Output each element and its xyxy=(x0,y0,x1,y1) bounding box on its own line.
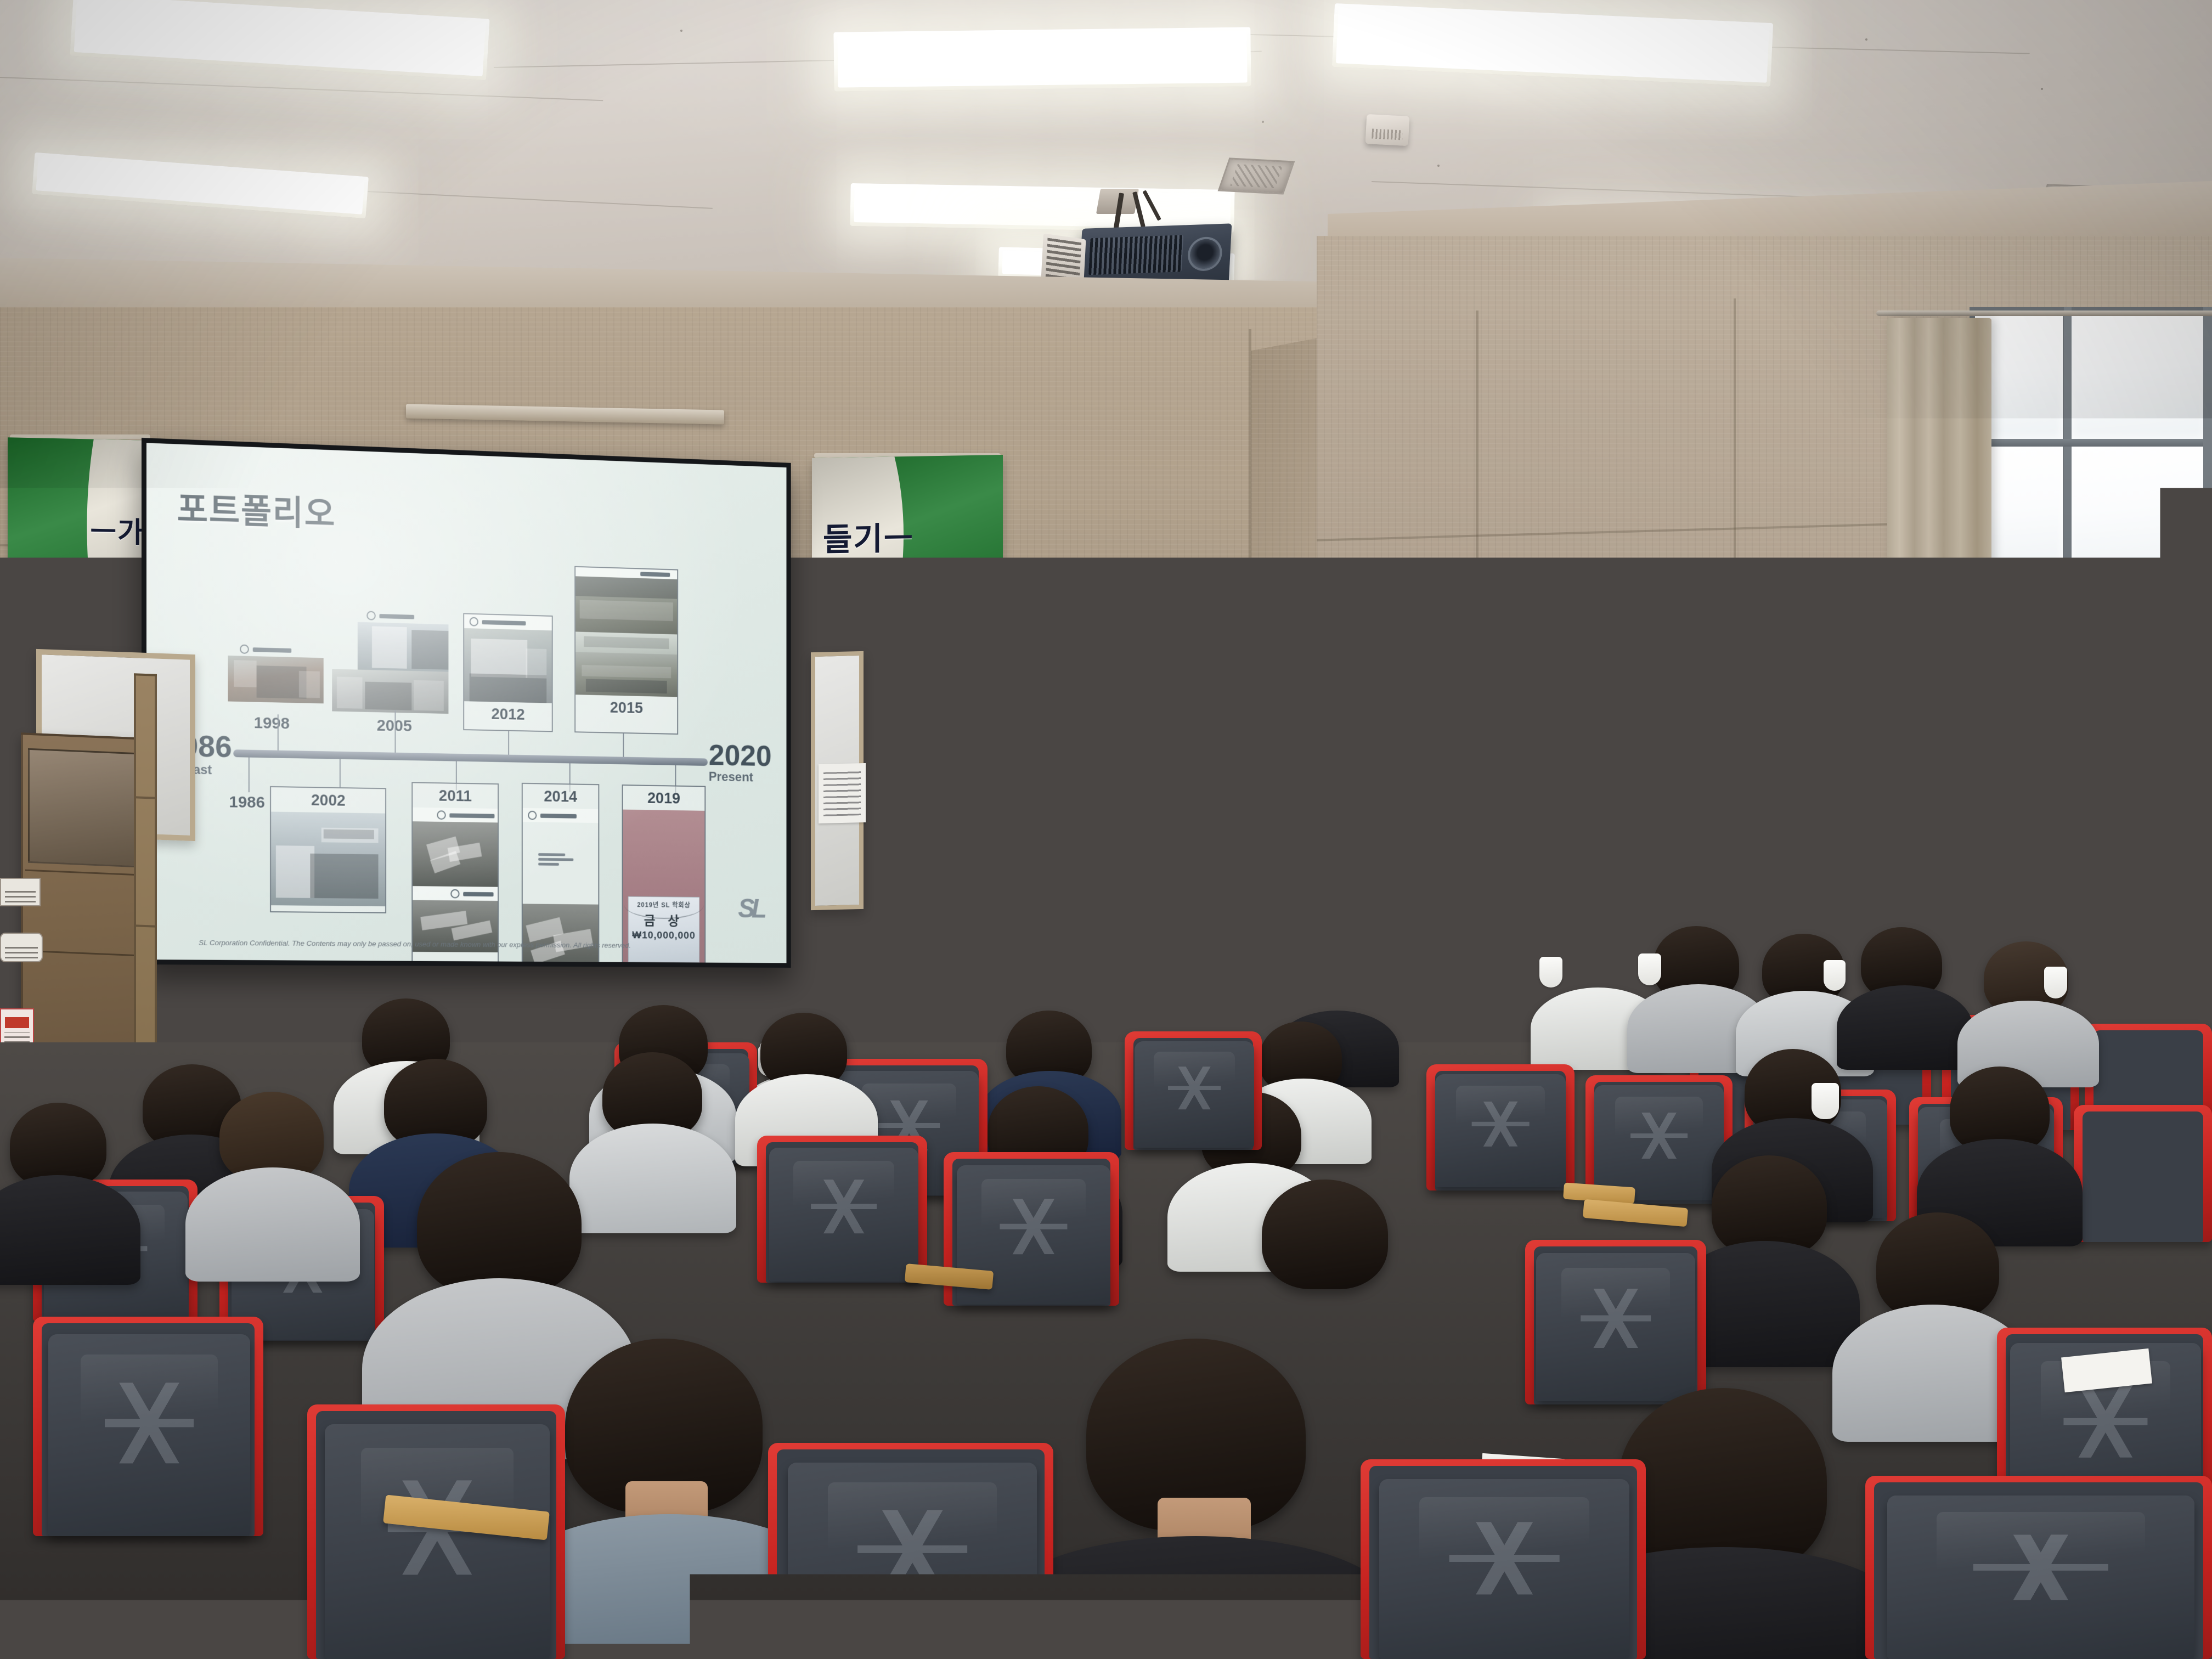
logo-wordmark xyxy=(463,891,493,896)
award-line-2: 금 상 xyxy=(628,910,699,929)
window-assembly xyxy=(1970,307,2212,779)
slide-card-2019: 2019 2019년 SL 학회상 금 상 ₩10,000,000 xyxy=(622,785,706,963)
timeline-tick xyxy=(394,710,396,753)
card-photo-tower xyxy=(358,622,448,673)
podium-seam xyxy=(1037,939,1254,941)
logo-mark-icon xyxy=(240,645,249,654)
seat-back[interactable] xyxy=(1594,1085,1724,1200)
face-mask xyxy=(1539,957,1562,988)
card-year-2002: 2002 xyxy=(271,787,385,814)
attendee-head-capped xyxy=(1301,963,1370,1018)
ceiling-speck xyxy=(2041,88,2043,90)
seat-back[interactable] xyxy=(1135,1041,1254,1148)
presenter-sleeve-patch xyxy=(1227,849,1243,868)
ceiling-speck xyxy=(680,30,682,32)
timeline-loose-year-1986: 1986 xyxy=(229,793,265,812)
green-banner-right: 들기ㅡ xyxy=(812,455,1003,615)
card-photo xyxy=(332,669,448,714)
seat-back[interactable] xyxy=(325,1424,550,1659)
card-year-1998: 1998 xyxy=(254,714,290,733)
logo-mark-icon xyxy=(450,889,459,899)
timeline-tick xyxy=(249,758,250,793)
card-year-2012: 2012 xyxy=(464,701,552,727)
attendee-head-foreground xyxy=(417,1152,582,1296)
cabinet-glass-door[interactable] xyxy=(28,748,138,867)
card-photo-award: 2019년 SL 학회상 금 상 ₩10,000,000 xyxy=(623,810,704,963)
slide-card-2012: 2012 xyxy=(463,613,552,732)
window-mullion xyxy=(2203,307,2212,779)
window-curtain[interactable] xyxy=(1887,318,1991,768)
card-photo xyxy=(228,656,323,703)
lecture-hall-photo: ㅡ가 들기ㅡ 포트폴리오 1998 xyxy=(0,0,2212,1659)
face-mask xyxy=(1824,960,1846,991)
wall-speaker xyxy=(1705,600,1771,643)
window-handle[interactable] xyxy=(2134,749,2156,758)
slide-title: 포트폴리오 xyxy=(177,481,336,535)
slide-card-2014: 2014 xyxy=(522,783,600,963)
window-mullion xyxy=(2064,307,2072,779)
timeline-bar xyxy=(233,749,708,766)
face-mask xyxy=(2044,967,2067,998)
window-pane-openable[interactable] xyxy=(2077,598,2200,763)
logo-wordmark xyxy=(253,647,292,653)
wall-rail xyxy=(1255,899,1491,913)
speaker-bracket xyxy=(1770,596,1785,601)
seat-back[interactable] xyxy=(769,1148,918,1282)
window-pane xyxy=(2070,311,2205,439)
award-plaque: 2019년 SL 학회상 금 상 ₩10,000,000 xyxy=(628,896,699,963)
attendee-head-foreground xyxy=(1618,1388,1827,1575)
water-bottle[interactable] xyxy=(1334,898,1348,940)
seat-back[interactable] xyxy=(1887,1496,2194,1659)
slide-card-1998 xyxy=(228,641,323,708)
window-mullion xyxy=(1970,584,2212,592)
ceiling-light xyxy=(833,27,1251,91)
attendee-shoulders xyxy=(569,1124,736,1233)
logo-mark-icon xyxy=(366,611,375,620)
logo-wordmark xyxy=(380,614,415,619)
curtain-rod xyxy=(1876,311,2212,316)
seat-back[interactable] xyxy=(788,1463,1037,1659)
card-photo xyxy=(271,812,385,906)
logo-mark-icon xyxy=(437,810,445,820)
seat[interactable] xyxy=(2074,1105,2212,1242)
ceiling-speck xyxy=(1865,38,1867,41)
slide-card-2005 xyxy=(332,607,448,714)
logo-wordmark xyxy=(540,814,577,819)
paper-sheet[interactable] xyxy=(1369,918,1412,936)
timeline-end: 2020 Present xyxy=(709,741,787,786)
seat-back[interactable] xyxy=(1435,1074,1566,1187)
smoke-detector xyxy=(1365,114,1410,146)
slide-card-2011: 2011 xyxy=(411,782,499,963)
timeline-tick xyxy=(623,733,624,757)
card-year-2014: 2014 xyxy=(523,784,599,809)
card-logo xyxy=(332,607,448,624)
timeline-tick xyxy=(508,731,509,755)
award-line-3: ₩10,000,000 xyxy=(628,930,699,942)
ceiling-speck xyxy=(1262,121,1264,123)
window-mullion xyxy=(1970,439,2212,447)
face-mask xyxy=(1133,759,1204,808)
card-photo-aerial xyxy=(413,821,498,887)
podium-notice xyxy=(1091,948,1147,980)
window-grid xyxy=(1970,307,2212,779)
ceiling-speck xyxy=(1437,165,1440,167)
slide-surface: 포트폴리오 1998 xyxy=(146,443,787,963)
logo-mark-icon xyxy=(470,617,478,627)
slide-card-2002: 2002 xyxy=(270,786,386,913)
wall-sign-round xyxy=(0,933,43,962)
timeline-end-label: Present xyxy=(709,770,787,786)
card-logo xyxy=(413,808,498,823)
projector-lens xyxy=(1189,239,1220,269)
slide-card-2015: 2015 xyxy=(574,566,678,735)
attendee-head xyxy=(1876,1212,1999,1320)
seat-back[interactable] xyxy=(48,1334,250,1536)
logo-wordmark xyxy=(482,620,526,625)
card-photo-banner xyxy=(575,631,677,654)
projector-grille xyxy=(1088,235,1183,275)
attendee-shoulders xyxy=(1837,985,1973,1070)
card-photo xyxy=(464,628,552,703)
card-logo xyxy=(523,808,599,823)
logo-wordmark xyxy=(640,572,670,577)
podium-hole xyxy=(1139,957,1148,966)
card-photo-plant xyxy=(575,576,677,634)
window-pane xyxy=(2070,444,2205,584)
card-logo xyxy=(413,886,498,901)
card-photo-aerial xyxy=(523,904,599,963)
timeline-end-year: 2020 xyxy=(709,741,787,770)
card-year-2011: 2011 xyxy=(413,783,498,809)
door-edge[interactable] xyxy=(134,673,157,1080)
face-mask xyxy=(1812,1083,1839,1119)
podium-hole xyxy=(1066,959,1075,968)
card-year-2019: 2019 xyxy=(623,786,704,811)
logo-mark-icon xyxy=(528,811,537,820)
attendee-head xyxy=(10,1103,106,1187)
card-photo-audience xyxy=(575,652,677,697)
seat-back[interactable] xyxy=(1379,1479,1629,1659)
face-mask xyxy=(1638,953,1661,985)
wall-joint xyxy=(1734,298,1736,1012)
projection-screen: 포트폴리오 1998 xyxy=(142,438,791,968)
timeline-tick xyxy=(278,714,279,750)
posted-notice xyxy=(819,763,866,823)
seat-back[interactable] xyxy=(1536,1253,1695,1401)
attendee-shoulders xyxy=(185,1167,360,1282)
presenter xyxy=(1070,713,1267,922)
green-banner-left: ㅡ가 xyxy=(8,437,149,616)
banner-right-text: 들기ㅡ xyxy=(823,512,914,560)
banner-left-text: ㅡ가 xyxy=(90,508,145,550)
air-vent xyxy=(1218,157,1295,194)
window-sill xyxy=(1865,763,2212,795)
seat-back[interactable] xyxy=(1144,1266,1317,1426)
award-line-1: 2019년 SL 학회상 xyxy=(628,900,699,910)
card-year-2015: 2015 xyxy=(575,695,677,721)
wall-sign xyxy=(0,878,41,906)
sl-brand-logo: SL xyxy=(738,893,763,924)
timeline-tick xyxy=(340,759,341,788)
logo-wordmark xyxy=(449,813,494,818)
